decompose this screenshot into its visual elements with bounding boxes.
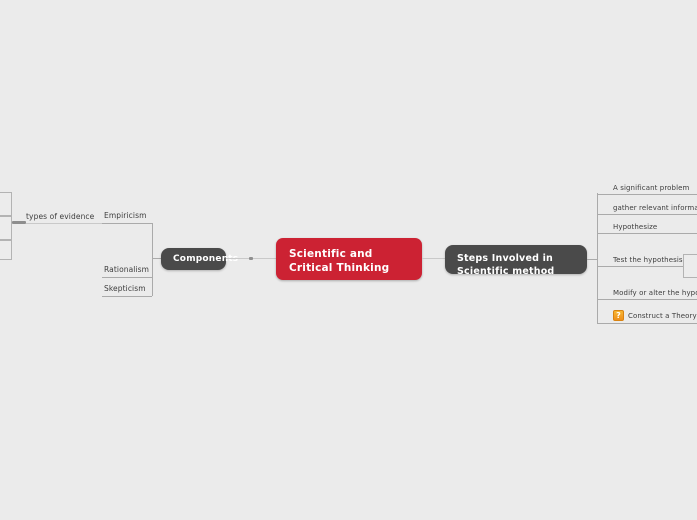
connector-left-spine <box>152 223 153 296</box>
connector-root-to-steps <box>422 258 446 259</box>
leaf-label-significant-problem[interactable]: A significant problem <box>613 184 689 192</box>
empty-placeholder-box[interactable] <box>683 254 697 278</box>
branch-node-steps[interactable]: Steps Involved in Scientific method <box>445 245 587 274</box>
leaf-label-hypothesize[interactable]: Hypothesize <box>613 223 657 231</box>
leaf-label-construct-theory[interactable]: Construct a Theory <box>628 312 697 320</box>
leaf-label-skepticism[interactable]: Skepticism <box>104 284 146 293</box>
question-mark-icon[interactable]: ? <box>613 310 624 321</box>
connector-gather-information <box>597 214 697 215</box>
connector-construct-theory <box>597 323 697 324</box>
connector-significant-problem <box>597 194 697 195</box>
connector-right-spine <box>597 193 598 323</box>
connector-rationalism <box>102 277 152 278</box>
root-node[interactable]: Scientific and Critical Thinking <box>276 238 422 280</box>
leaf-label-gather-information[interactable]: gather relevant information <box>613 204 697 212</box>
leaf-label-modify-hypothesis[interactable]: Modify or alter the hypothesis <box>613 289 697 297</box>
empty-placeholder-box[interactable] <box>0 240 12 260</box>
empty-placeholder-box[interactable] <box>0 216 12 240</box>
connector-modify-hypothesis <box>597 299 697 300</box>
leaf-label-rationalism[interactable]: Rationalism <box>104 265 149 274</box>
leaf-label-empiricism[interactable]: Empiricism <box>104 211 146 220</box>
leaf-label-types-of-evidence[interactable]: types of evidence <box>26 212 94 221</box>
connector-test-hypothesis <box>597 266 697 267</box>
branch-node-components[interactable]: Components <box>161 248 226 270</box>
connector-empiricism <box>102 223 152 224</box>
connector-hypothesize <box>597 233 697 234</box>
connector-dot <box>249 257 253 260</box>
connector-far-left-stub <box>12 221 26 224</box>
mindmap-canvas: types of evidence Empiricism Rationalism… <box>0 0 697 520</box>
connector-skepticism <box>102 296 152 297</box>
leaf-label-test-hypothesis[interactable]: Test the hypothesis <box>613 256 683 264</box>
empty-placeholder-box[interactable] <box>0 192 12 216</box>
